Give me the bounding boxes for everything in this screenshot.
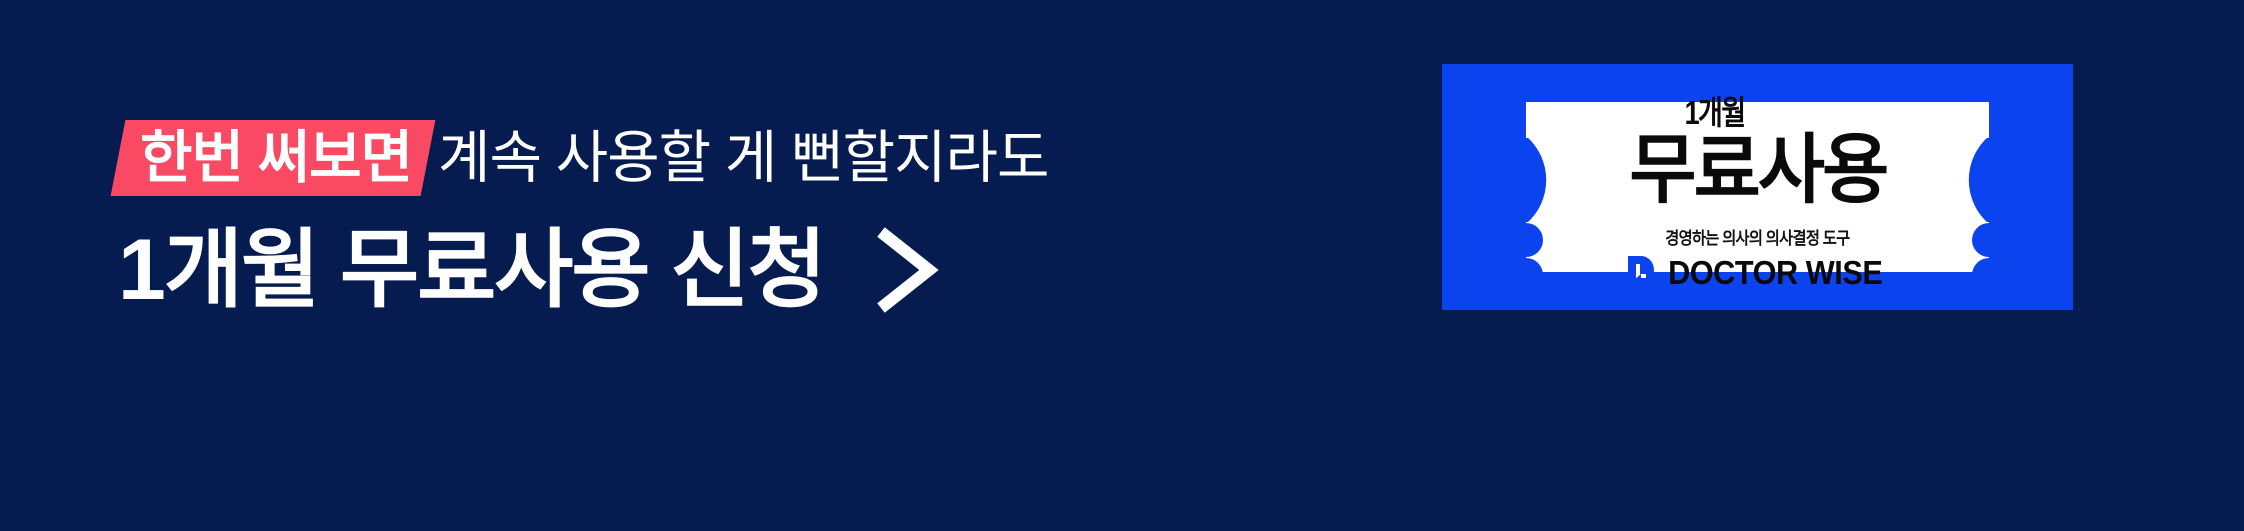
highlight-badge: 한번 써보면: [118, 120, 428, 196]
banner-subheadline: 한번 써보면 계속 사용할 게 뻔할지라도: [118, 120, 1378, 196]
subheadline-rest: 계속 사용할 게 뻔할지라도: [438, 120, 1048, 196]
banner-copy: 한번 써보면 계속 사용할 게 뻔할지라도 1개월 무료사용 신청: [118, 120, 1378, 322]
doctorwise-d-logo-icon: [1625, 254, 1657, 290]
brand-lockup: DOCTOR WISE: [1625, 254, 1890, 290]
ticket-tagline: 경영하는 의사의 의사결정 도구: [1665, 230, 1849, 247]
promo-banner[interactable]: 한번 써보면 계속 사용할 게 뻔할지라도 1개월 무료사용 신청: [0, 0, 2244, 531]
ticket-kicker: 1개월: [1685, 96, 1745, 129]
ticket-headline: 무료사용: [1629, 131, 1886, 210]
free-trial-ticket[interactable]: 1개월 무료사용 경영하는 의사의 의사결정 도구 DOCTOR WISE: [1442, 64, 2073, 310]
ticket-content: 1개월 무료사용 경영하는 의사의 의사결정 도구 DOCTOR WISE: [1442, 64, 2073, 310]
banner-headline-row[interactable]: 1개월 무료사용 신청: [118, 218, 1378, 322]
brand-name: DOCTOR WISE: [1668, 256, 1882, 289]
chevron-right-icon[interactable]: [871, 224, 941, 316]
highlight-badge-label: 한번 써보면: [140, 120, 412, 196]
banner-headline: 1개월 무료사용 신청: [118, 218, 825, 322]
